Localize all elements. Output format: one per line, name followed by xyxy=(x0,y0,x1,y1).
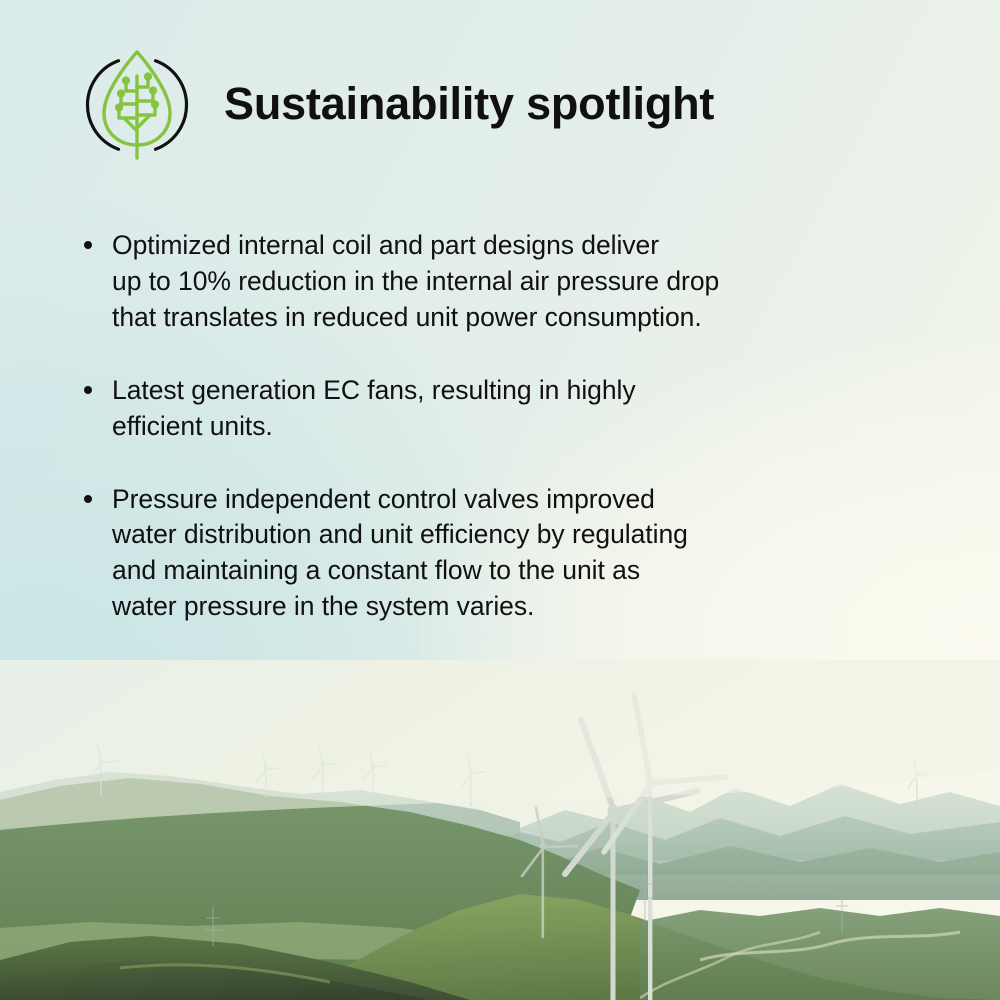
bullet-dot-icon xyxy=(84,495,92,503)
list-item-text: Latest generation EC fans, resulting in … xyxy=(112,373,908,445)
feature-bullet-list: Optimized internal coil and part designs… xyxy=(78,228,908,625)
bullet-dot-icon xyxy=(84,386,92,394)
leaf-circuit-icon xyxy=(78,46,196,164)
card-header: Sustainability spotlight xyxy=(78,46,714,164)
bullet-dot-icon xyxy=(84,241,92,249)
hero-photo-wind-turbines xyxy=(0,660,1000,1000)
sustainability-spotlight-card: Sustainability spotlight Optimized inter… xyxy=(0,0,1000,1000)
list-item: Optimized internal coil and part designs… xyxy=(78,228,908,336)
page-title: Sustainability spotlight xyxy=(224,81,714,130)
list-item-text: Pressure independent control valves impr… xyxy=(112,482,908,626)
list-item: Pressure independent control valves impr… xyxy=(78,482,908,626)
list-item: Latest generation EC fans, resulting in … xyxy=(78,373,908,445)
list-item-text: Optimized internal coil and part designs… xyxy=(112,228,908,336)
